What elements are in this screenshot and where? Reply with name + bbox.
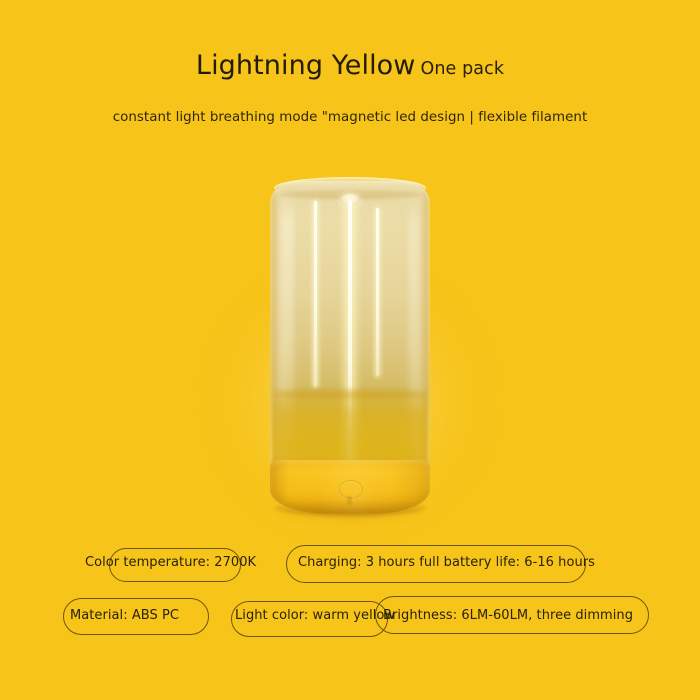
spec-pill-label: Light color: warm yellow	[235, 608, 395, 623]
spec-pill-material: Material: ABS PC	[70, 608, 179, 623]
spec-list: Color temperature: 2700K Charging: 3 hou…	[0, 546, 700, 650]
pack-quantity: One pack	[420, 59, 504, 79]
led-filament-right	[376, 208, 379, 376]
spec-pill-label: Color temperature: 2700K	[85, 555, 256, 570]
page-title: Lightning YellowOne pack	[0, 52, 700, 79]
spec-row: Material: ABS PC Light color: warm yello…	[0, 598, 700, 650]
led-filament-left	[314, 201, 317, 387]
spec-pill-light-color: Light color: warm yellow	[235, 608, 395, 623]
spec-row: Color temperature: 2700K Charging: 3 hou…	[0, 546, 700, 598]
spec-pill-charging: Charging: 3 hours full battery life: 6-1…	[298, 555, 595, 570]
spec-pill-label: Material: ABS PC	[70, 608, 179, 623]
product-tagline: constant light breathing mode "magnetic …	[0, 110, 700, 125]
product-poster: Lightning YellowOne pack constant light …	[0, 0, 700, 700]
power-button-glyph	[347, 496, 352, 505]
product-image	[228, 160, 472, 540]
spec-pill-color-temp: Color temperature: 2700K	[85, 555, 256, 570]
spec-pill-brightness: Brightness: 6LM-60LM, three dimming	[383, 608, 633, 623]
glass-pool-line	[275, 390, 425, 399]
product-name: Lightning Yellow	[196, 50, 416, 81]
spec-pill-label: Charging: 3 hours full battery life: 6-1…	[298, 555, 595, 570]
spec-pill-label: Brightness: 6LM-60LM, three dimming	[383, 608, 633, 623]
